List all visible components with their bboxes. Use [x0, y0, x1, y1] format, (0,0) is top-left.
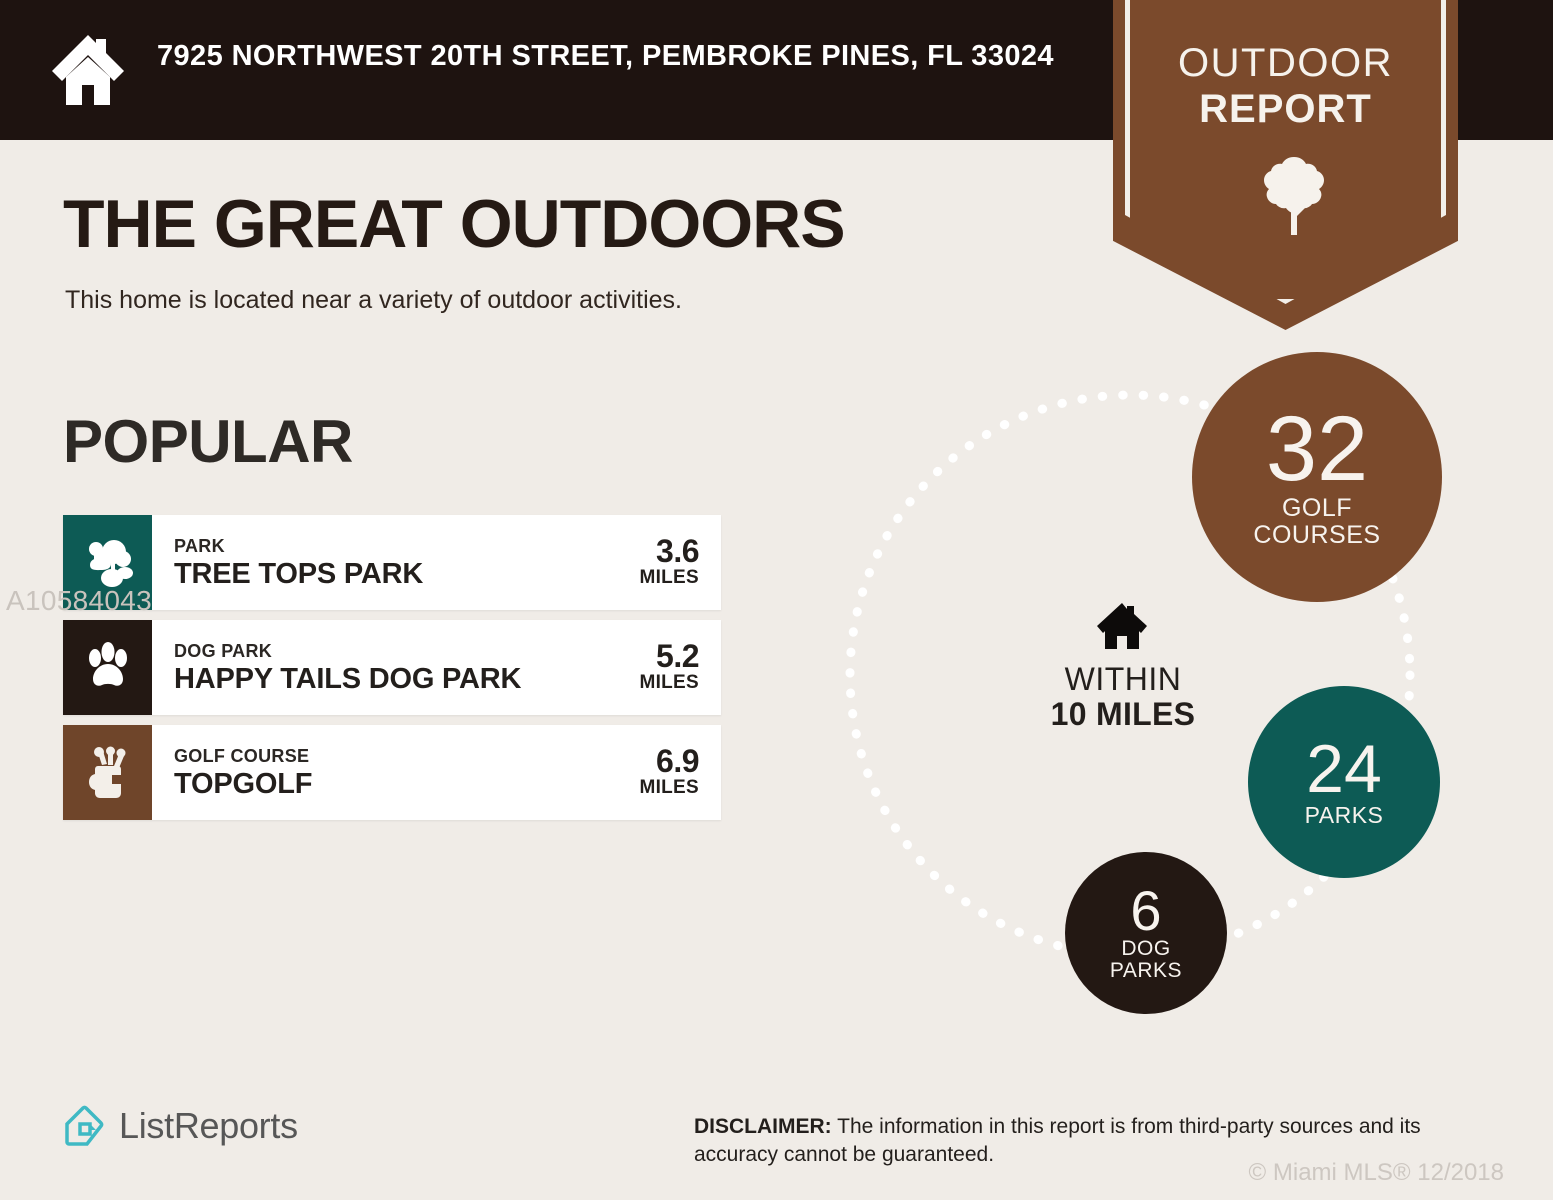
center-marker: WITHIN 10 MILES	[998, 602, 1248, 732]
tree-icon	[1262, 155, 1326, 237]
poi-distance: 6.9 MILES	[569, 725, 721, 820]
list-item[interactable]: DOG PARK HAPPY TAILS DOG PARK 5.2 MILES	[63, 620, 721, 715]
poi-name: HAPPY TAILS DOG PARK	[174, 663, 569, 695]
mls-copyright: © Miami MLS® 12/2018	[1249, 1159, 1504, 1187]
poi-distance: 5.2 MILES	[569, 620, 721, 715]
outdoor-report-page: 7925 Northwest 20th Street, Pembroke Pin…	[0, 0, 1553, 1200]
poi-distance: 3.6 MILES	[569, 515, 721, 610]
list-item[interactable]: GOLF COURSE TOPGOLF 6.9 MILES	[63, 725, 721, 820]
stat-label-line2: PARKS	[1110, 960, 1182, 982]
poi-text: DOG PARK HAPPY TAILS DOG PARK	[152, 620, 569, 715]
poi-name: TREE TOPS PARK	[174, 558, 569, 590]
poi-distance-unit: MILES	[639, 567, 699, 590]
listreports-house-tag-icon	[63, 1104, 107, 1148]
popular-list: PARK TREE TOPS PARK 3.6 MILES DOG PARK H…	[63, 515, 721, 830]
listreports-wordmark: ListReports	[119, 1105, 298, 1147]
stat-label-line2: COURSES	[1253, 522, 1380, 548]
poi-distance-value: 3.6	[656, 535, 699, 568]
listreports-logo[interactable]: ListReports	[63, 1104, 298, 1148]
property-address: 7925 Northwest 20th Street, Pembroke Pin…	[157, 36, 1057, 77]
badge-title: OUTDOOR REPORT	[1113, 40, 1458, 132]
poi-category: DOG PARK	[174, 640, 569, 663]
within-10-miles-diagram: WITHIN 10 MILES 32 GOLF COURSES 24 PARKS…	[830, 340, 1490, 1040]
paw-print-icon	[81, 641, 135, 695]
stat-label-line1: DOG	[1110, 938, 1182, 960]
stat-value: 32	[1266, 406, 1368, 493]
stat-bubble-golf-courses[interactable]: 32 GOLF COURSES	[1192, 352, 1442, 602]
stat-bubble-parks[interactable]: 24 PARKS	[1248, 686, 1440, 878]
disclaimer-label: DISCLAIMER:	[694, 1115, 832, 1138]
page-subtitle: This home is located near a variety of o…	[65, 286, 682, 315]
poi-name: TOPGOLF	[174, 768, 569, 800]
poi-category: PARK	[174, 535, 569, 558]
stat-label: DOG PARKS	[1110, 938, 1182, 982]
stat-label: GOLF COURSES	[1253, 495, 1380, 548]
list-item[interactable]: PARK TREE TOPS PARK 3.6 MILES	[63, 515, 721, 610]
stat-label-line1: PARKS	[1305, 803, 1384, 827]
page-title: THE GREAT OUTDOORS	[63, 190, 845, 258]
stat-label: PARKS	[1305, 803, 1384, 827]
popular-heading: POPULAR	[63, 412, 353, 472]
poi-icon-box	[63, 725, 152, 820]
stat-label-line1: GOLF	[1253, 495, 1380, 521]
golf-bag-icon	[82, 745, 134, 801]
badge-title-line1: OUTDOOR	[1113, 40, 1458, 86]
center-label-line2: 10 MILES	[998, 697, 1248, 732]
badge-title-line2: REPORT	[1113, 86, 1458, 132]
poi-distance-unit: MILES	[639, 672, 699, 695]
stat-bubble-dog-parks[interactable]: 6 DOG PARKS	[1065, 852, 1227, 1014]
poi-text: PARK TREE TOPS PARK	[152, 515, 569, 610]
poi-distance-value: 5.2	[656, 640, 699, 673]
house-icon	[1096, 602, 1150, 650]
poi-text: GOLF COURSE TOPGOLF	[152, 725, 569, 820]
house-icon	[50, 33, 130, 107]
center-label-line1: WITHIN	[998, 662, 1248, 697]
poi-icon-box	[63, 620, 152, 715]
poi-distance-unit: MILES	[639, 777, 699, 800]
stat-value: 6	[1130, 884, 1161, 937]
outdoor-report-badge: OUTDOOR REPORT	[1113, 0, 1458, 330]
trees-icon	[80, 535, 136, 591]
stat-value: 24	[1306, 737, 1382, 802]
poi-distance-value: 6.9	[656, 745, 699, 778]
poi-category: GOLF COURSE	[174, 745, 569, 768]
mls-watermark: A10584043	[6, 585, 152, 617]
